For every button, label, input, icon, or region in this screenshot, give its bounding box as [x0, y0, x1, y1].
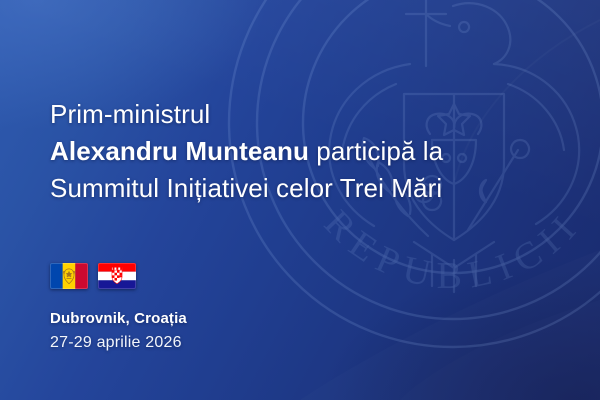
announcement-card: GUVERNUL REPUBLICII: [0, 0, 600, 400]
location-label: Dubrovnik, Croația: [50, 310, 187, 327]
flag-pair: [50, 263, 136, 289]
moldova-flag: [50, 263, 88, 289]
croatia-flag: [98, 263, 136, 289]
headline-line-1: Prim-ministrul: [50, 96, 520, 133]
card-content: Prim-ministrul Alexandru Munteanu partic…: [0, 0, 600, 400]
headline-line-2: Alexandru Munteanu participă la: [50, 133, 520, 170]
dates-label: 27-29 aprilie 2026: [50, 334, 182, 352]
page-title: Prim-ministrul Alexandru Munteanu partic…: [50, 96, 520, 207]
headline-line-3: Summitul Inițiativei celor Trei Mări: [50, 170, 520, 207]
headline-line-2-rest: participă la: [309, 136, 443, 166]
pm-name: Alexandru Munteanu: [50, 136, 309, 166]
